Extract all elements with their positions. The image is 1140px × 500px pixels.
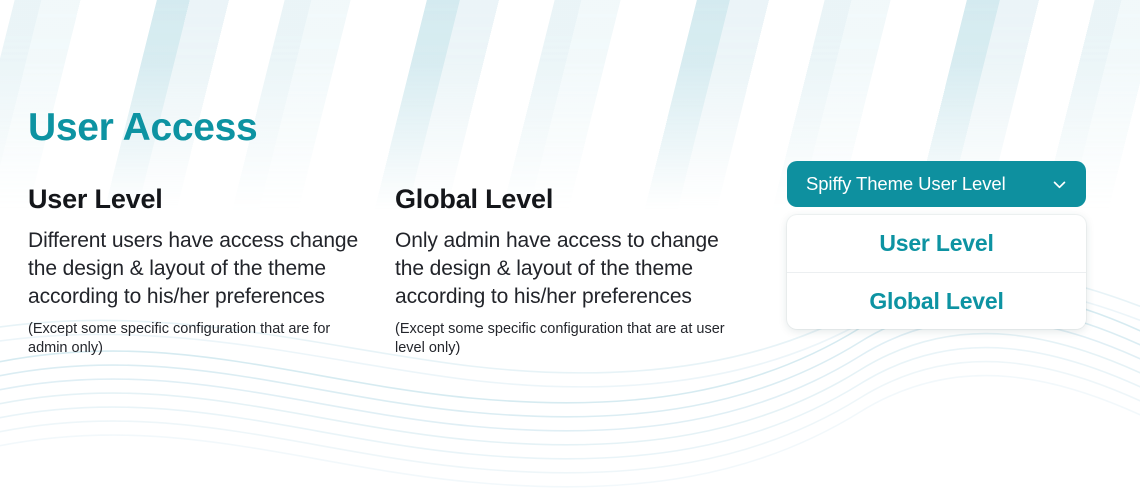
- dropdown-option-global-level[interactable]: Global Level: [787, 272, 1086, 329]
- user-level-description: Different users have access change the d…: [28, 227, 368, 311]
- global-level-note: (Except some specific configuration that…: [395, 320, 735, 358]
- slide-content: User Access User Level Different users h…: [0, 0, 1140, 500]
- global-level-description: Only admin have access to change the des…: [395, 227, 735, 311]
- global-level-heading: Global Level: [395, 183, 735, 215]
- dropdown-selected-label: Spiffy Theme User Level: [806, 173, 1006, 195]
- dropdown-options-menu: User Level Global Level: [787, 215, 1086, 329]
- page-title: User Access: [28, 107, 257, 150]
- user-level-column: User Level Different users have access c…: [28, 183, 368, 358]
- chevron-down-icon[interactable]: [1051, 176, 1068, 193]
- dropdown-option-user-level[interactable]: User Level: [787, 215, 1086, 272]
- global-level-column: Global Level Only admin have access to c…: [395, 183, 735, 358]
- dropdown-toggle-button[interactable]: Spiffy Theme User Level: [787, 161, 1086, 207]
- user-level-dropdown: Spiffy Theme User Level User Level Globa…: [787, 161, 1086, 329]
- user-level-heading: User Level: [28, 183, 368, 215]
- user-level-note: (Except some specific configuration that…: [28, 320, 368, 358]
